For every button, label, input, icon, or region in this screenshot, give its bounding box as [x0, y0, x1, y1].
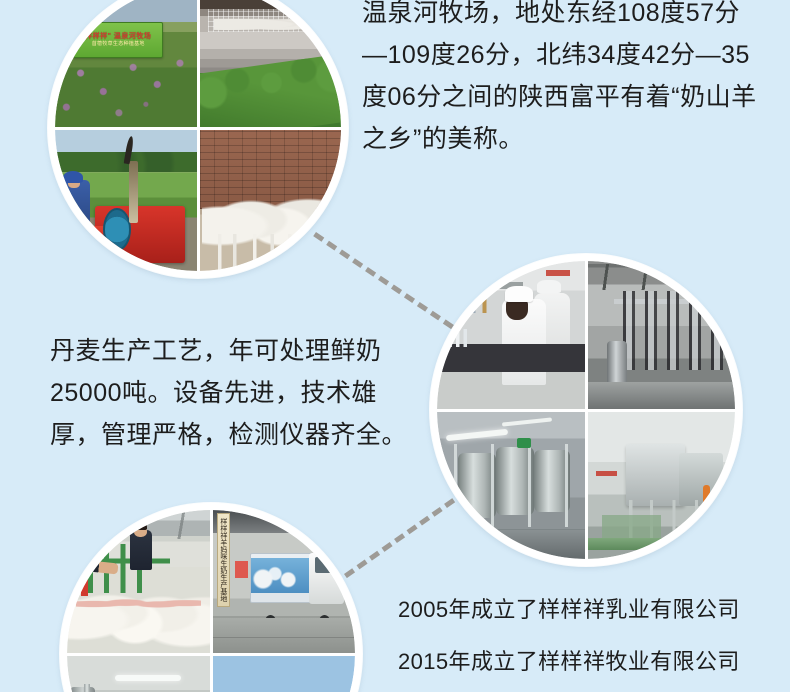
farm-sign-line-2: 苜蓿牧草生态种植基地 [92, 42, 145, 47]
photo-circle-pasture: 样样祥" 温泉河牧场 苜蓿牧草生态种植基地 [48, 0, 348, 278]
goat-legs [208, 234, 333, 271]
green-panel [602, 515, 661, 539]
orange-hose [703, 485, 710, 523]
photo-milking-parlour-equipment [588, 261, 736, 409]
conveyor-belt [588, 538, 736, 550]
photo-white-goats-at-brick-wall [200, 130, 342, 272]
truck-windshield [315, 557, 339, 573]
ceiling-lamp [115, 675, 181, 681]
exit-sign [517, 438, 532, 448]
tank-room-floor [437, 530, 585, 560]
second-worker-hat [537, 280, 561, 293]
shed-goats [214, 16, 327, 30]
parlour-floor [588, 382, 736, 409]
photo-open-sky [213, 656, 356, 692]
farm-sign-line-1: 样样祥" 温泉河牧场 [85, 33, 151, 40]
photo-goat-shed-and-hedge [200, 0, 342, 127]
photo-alfalfa-field-with-sign: 样样祥" 温泉河牧场 苜蓿牧草生态种植基地 [55, 0, 197, 127]
filling-machine [626, 444, 685, 506]
farmer-body [62, 180, 90, 231]
truck-cargo-artwork [251, 558, 311, 592]
worker-hair [134, 523, 147, 530]
paragraph-production: 丹麦生产工艺，年可处理鲜奶25000吨。设备先进，技术雄厚，管理严格，检测仪器齐… [50, 330, 422, 456]
lab-flasks [440, 329, 478, 347]
roof-beams [588, 264, 736, 291]
process-vessel [70, 687, 96, 692]
milestone-2005: 2005年成立了样样祥乳业有限公司 [398, 592, 740, 624]
photo-stainless-steel-tanks [437, 412, 585, 560]
floor-seam [213, 637, 356, 638]
goat-ears [76, 593, 201, 616]
tractor-wheel [103, 208, 131, 252]
technician-hat [505, 286, 533, 302]
photo-delivery-truck-in-warehouse: 样样祥羊妈咪生奶生产基地 [213, 510, 356, 653]
farmer-cap [63, 171, 83, 184]
lab-bench [437, 344, 585, 372]
ceiling-lamp-back [502, 418, 552, 428]
promo-page: 样样祥" 温泉河牧场 苜蓿牧草生态种植基地 [0, 0, 790, 692]
photo-milk-pipework-room [67, 656, 210, 692]
tank-railing [440, 444, 582, 527]
photo-lab-technician-testing [437, 261, 585, 409]
warehouse-floor [213, 618, 356, 652]
vertical-banner: 样样祥羊妈咪生奶生产基地 [217, 513, 230, 607]
farm-sign: 样样祥" 温泉河牧场 苜蓿牧草生态种植基地 [73, 22, 163, 58]
tractor-exhaust [129, 161, 139, 223]
photo-farmer-on-red-tractor [55, 130, 197, 272]
photo-circle-dairy-plant [430, 254, 742, 566]
wall-poster [235, 561, 248, 578]
warehouse-ceiling [213, 510, 356, 533]
capping-machine [679, 453, 723, 506]
photo-feeding-goats-at-rail [67, 510, 210, 653]
vertical-pipe-1 [84, 684, 90, 692]
milk-churn [607, 341, 628, 385]
ceiling-lamp-front [446, 429, 508, 441]
milestone-2015: 2015年成立了样样祥牧业有限公司 [398, 644, 740, 676]
milking-units [623, 291, 732, 371]
lab-wall-tag [546, 270, 570, 276]
photo-circle-farm-logistics: 样样祥羊妈咪生奶生产基地 [60, 503, 362, 692]
photo-bottle-filling-line [588, 412, 736, 560]
filling-line-tag [596, 471, 617, 477]
green-hedge [200, 54, 342, 127]
paragraph-location: 温泉河牧场，地处东经108度57分—109度26分，北纬34度42分—35度06… [362, 0, 762, 160]
